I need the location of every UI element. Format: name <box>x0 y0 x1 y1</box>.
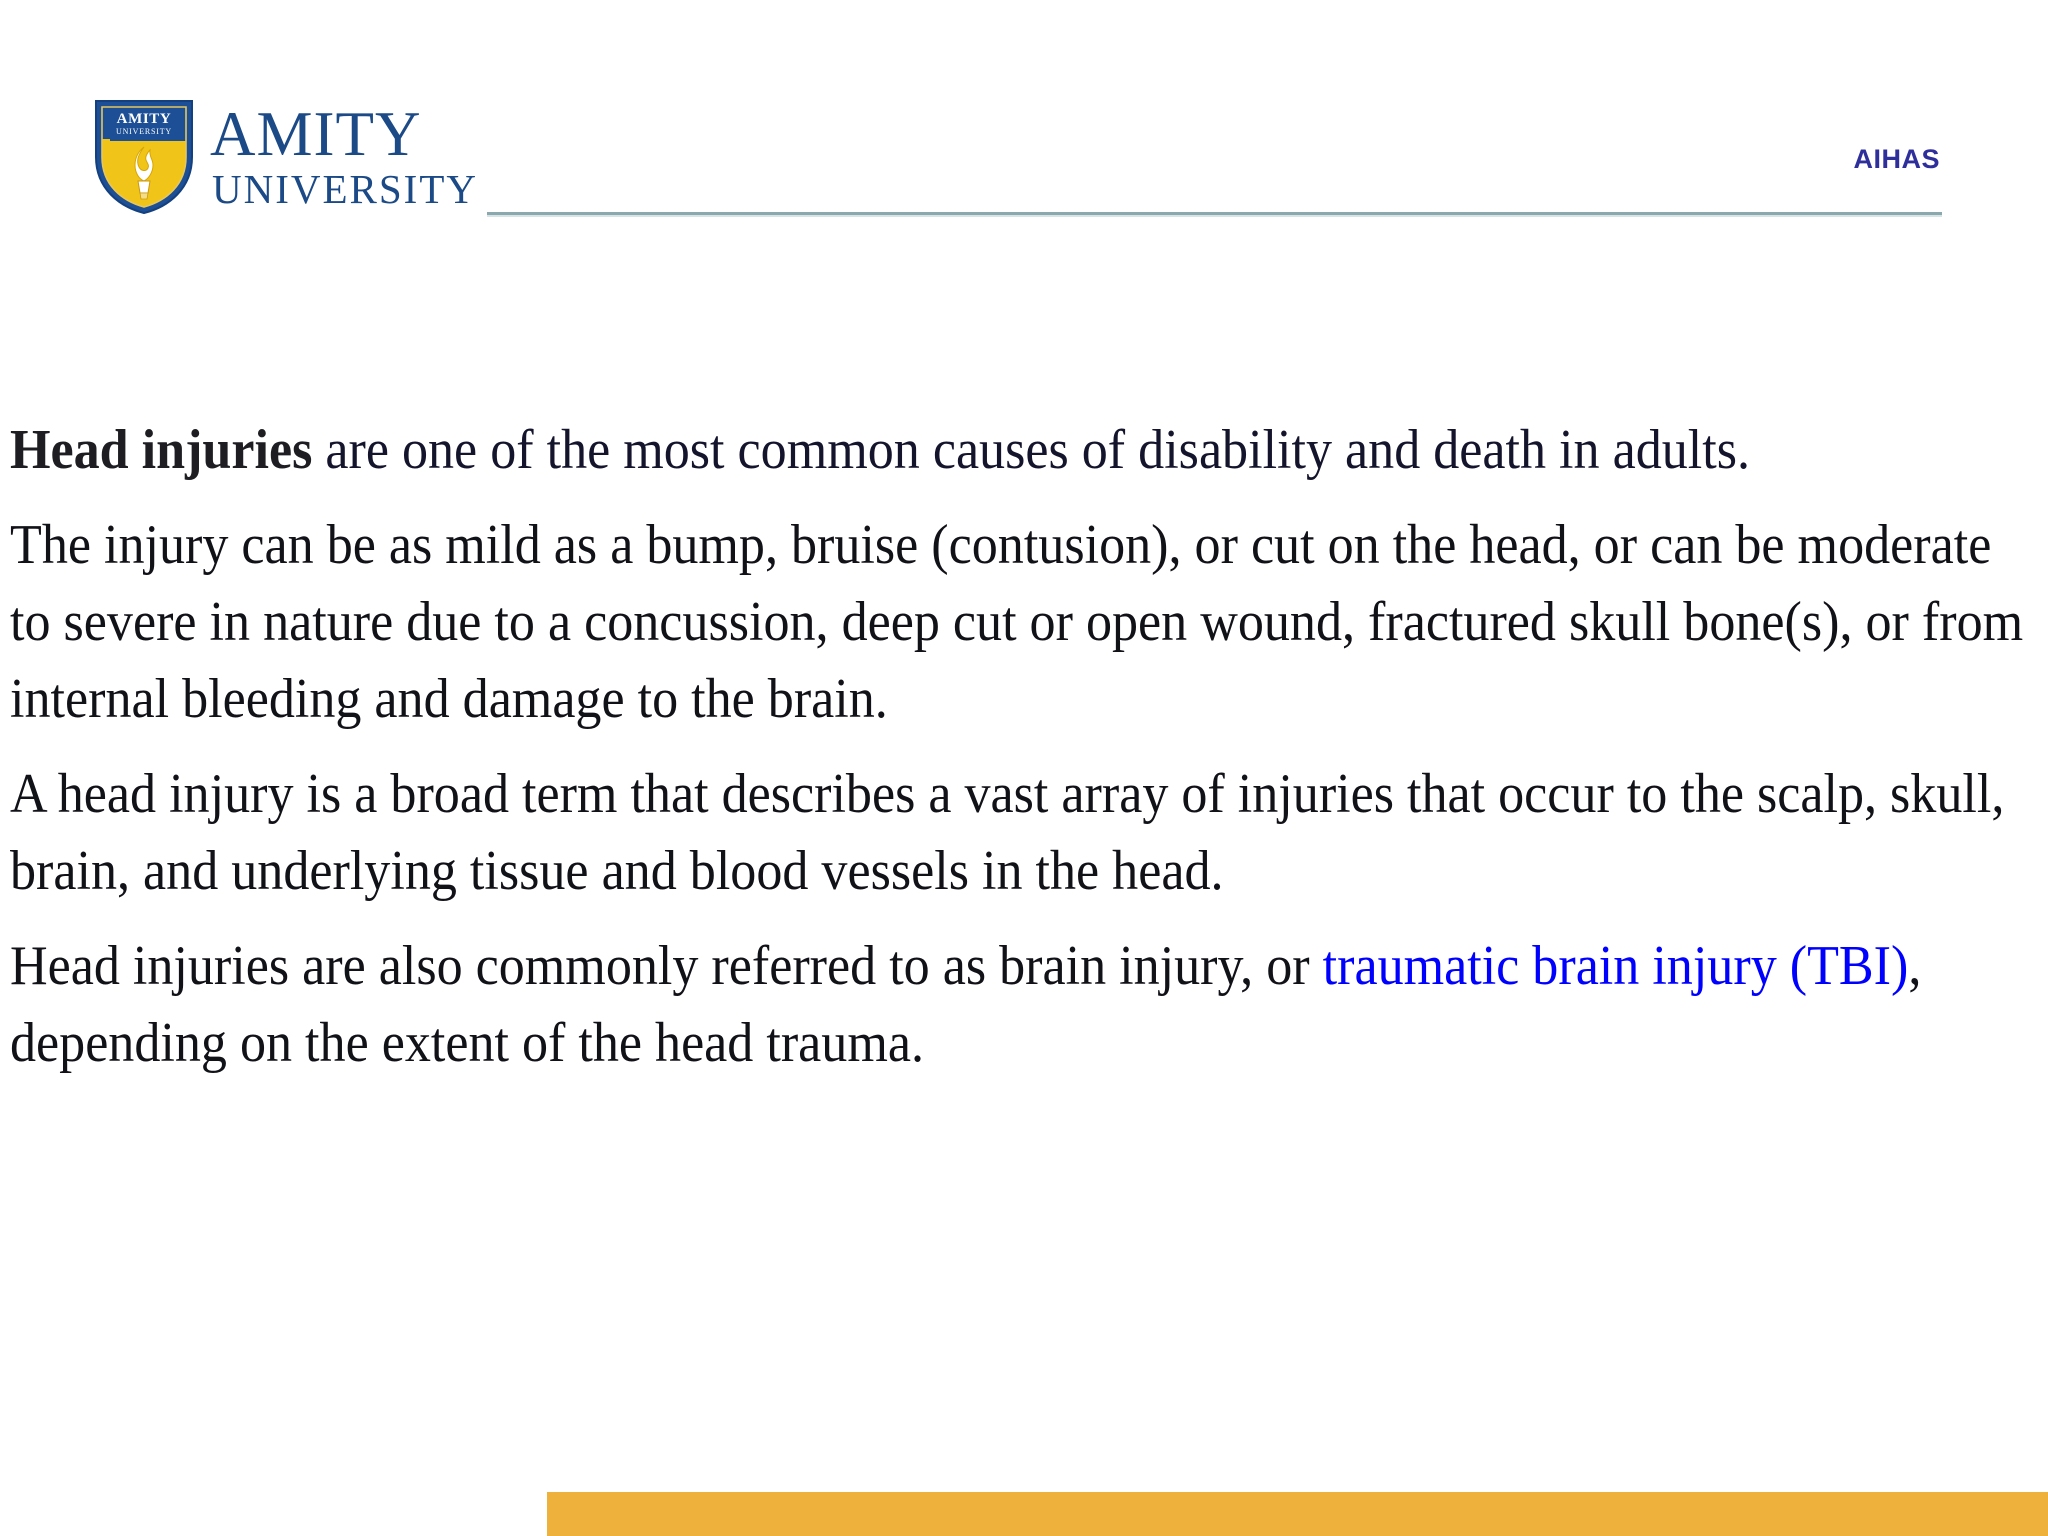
traumatic-brain-injury-link[interactable]: traumatic brain injury (TBI) <box>1323 935 1909 997</box>
paragraph-1: Head injuries are one of the most common… <box>10 412 2041 489</box>
paragraph-2: The injury can be as mild as a bump, bru… <box>10 507 2041 738</box>
amity-shield-icon: AMITY UNIVERSITY <box>92 95 196 217</box>
slide-header: AMITY UNIVERSITY AMITY UNIVERSITY AIHAS <box>0 0 2048 250</box>
wordmark-amity: AMITY <box>210 104 478 166</box>
footer-accent-bar <box>547 1492 2048 1536</box>
paragraph-4: Head injuries are also commonly referred… <box>10 928 2041 1082</box>
paragraph-3: A head injury is a broad term that descr… <box>10 756 2041 910</box>
slide-body: Head injuries are one of the most common… <box>10 412 2042 1082</box>
header-divider-rule <box>487 212 1942 215</box>
amity-university-logo: AMITY UNIVERSITY AMITY UNIVERSITY <box>92 95 478 217</box>
department-code-label: AIHAS <box>1853 144 1940 175</box>
wordmark-university: UNIVERSITY <box>212 169 478 210</box>
paragraph-1-rest: are one of the most common causes of dis… <box>312 419 1750 481</box>
paragraph-1-lead: Head injuries <box>10 419 312 481</box>
paragraph-4-before-link: Head injuries are also commonly referred… <box>10 935 1323 997</box>
svg-text:AMITY: AMITY <box>117 111 172 127</box>
amity-wordmark: AMITY UNIVERSITY <box>210 102 478 211</box>
svg-text:UNIVERSITY: UNIVERSITY <box>116 127 172 136</box>
